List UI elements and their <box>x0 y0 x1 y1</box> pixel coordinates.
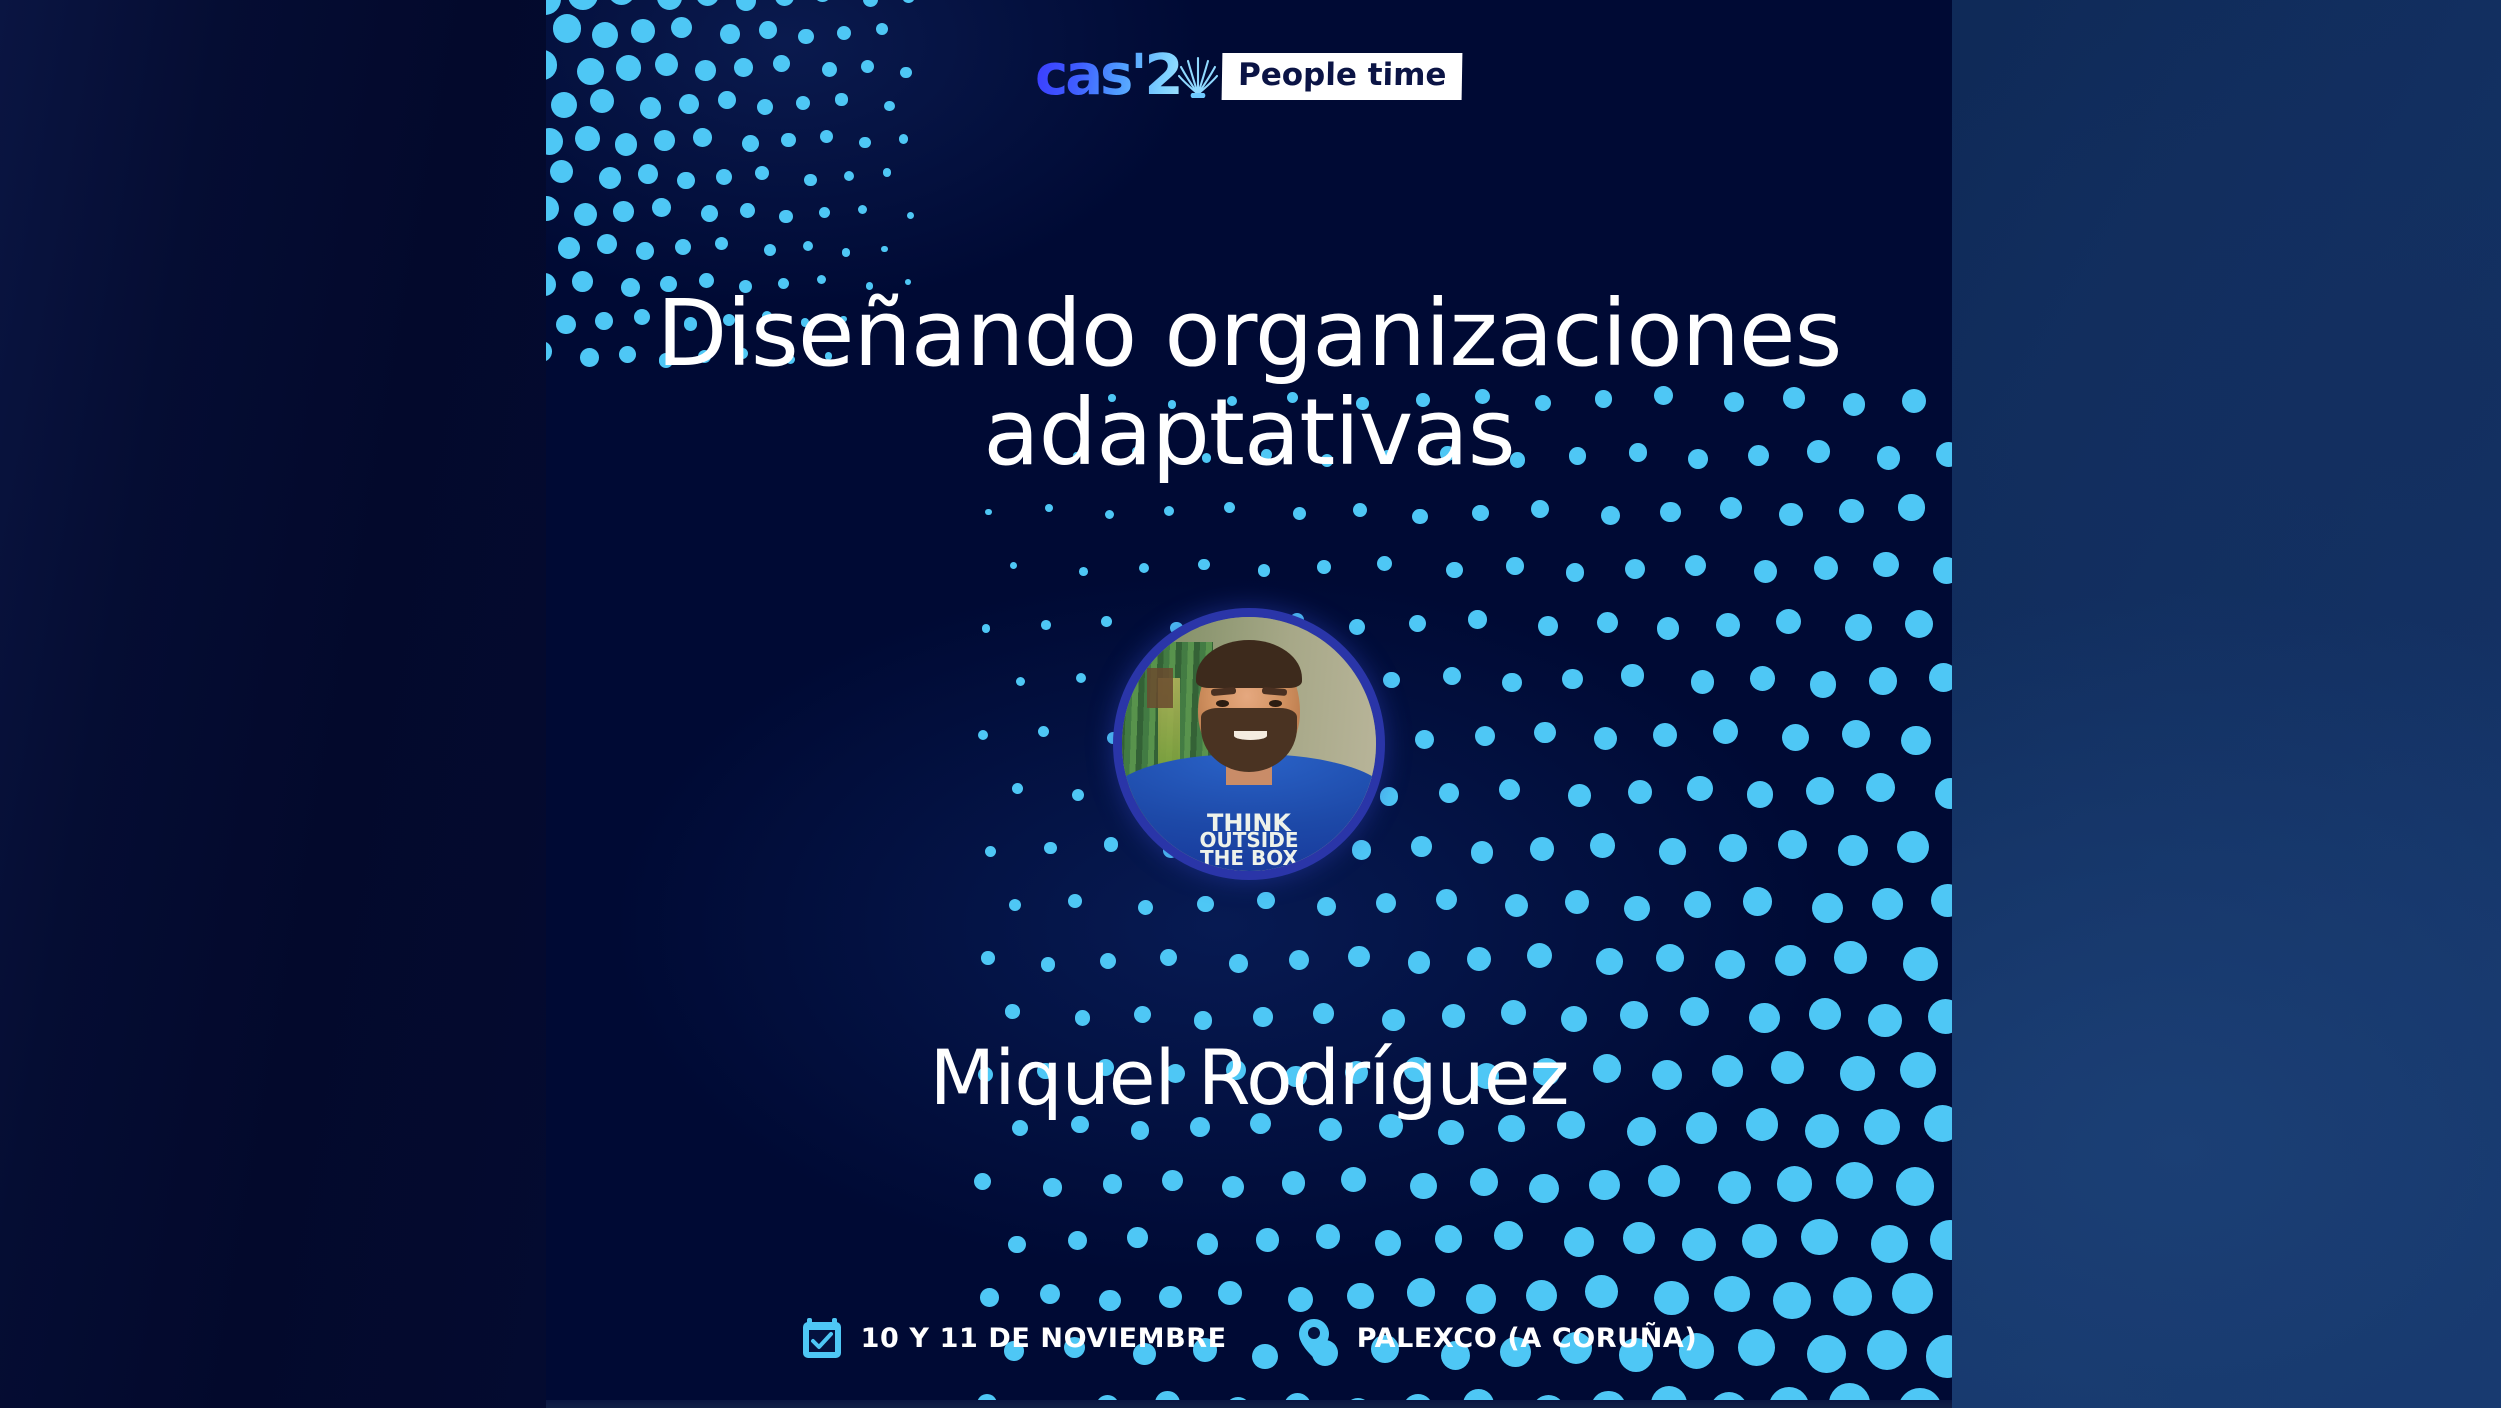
decorative-dot <box>1624 896 1650 922</box>
decorative-dot <box>1347 1283 1374 1310</box>
decorative-dot <box>1068 894 1082 908</box>
decorative-dot <box>876 23 888 35</box>
decorative-dot <box>1138 900 1153 915</box>
decorative-dot <box>1068 1231 1087 1250</box>
decorative-dot <box>1466 1284 1496 1314</box>
decorative-dot <box>1531 500 1549 518</box>
decorative-dot <box>1718 1171 1752 1205</box>
decorative-dot <box>1194 1011 1212 1029</box>
decorative-dot <box>1010 562 1018 570</box>
decorative-dot <box>1716 613 1740 637</box>
decorative-dot <box>1016 677 1025 686</box>
decorative-dot <box>1623 1222 1655 1254</box>
decorative-dot <box>1224 502 1236 514</box>
decorative-dot <box>781 133 796 148</box>
footer-date-label: 10 Y 11 DE NOVIEMBRE <box>861 1323 1227 1354</box>
decorative-dot <box>1691 670 1714 693</box>
decorative-dot <box>1928 999 1952 1034</box>
scallop-shell-icon <box>1178 54 1218 98</box>
decorative-dot <box>1656 944 1684 972</box>
decorative-dot <box>1407 1278 1435 1306</box>
decorative-dot <box>842 248 850 256</box>
decorative-dot <box>1778 830 1807 859</box>
decorative-dot <box>1538 616 1558 636</box>
decorative-dot <box>1282 1171 1306 1195</box>
decorative-dot <box>1288 1287 1313 1312</box>
decorative-dot <box>1902 389 1926 413</box>
decorative-dot <box>1467 947 1491 971</box>
decorative-dot <box>1526 1280 1557 1311</box>
decorative-dot <box>1383 672 1400 689</box>
decorative-dot <box>1660 502 1681 523</box>
decorative-dot <box>974 1173 991 1190</box>
decorative-dot <box>858 205 867 214</box>
speaker-eye-right <box>1269 700 1282 707</box>
decorative-dot <box>844 171 854 181</box>
decorative-dot <box>1076 673 1086 683</box>
decorative-dot <box>1072 789 1084 801</box>
decorative-dot <box>1256 1228 1279 1251</box>
decorative-dot <box>1590 833 1615 858</box>
decorative-dot <box>575 126 600 151</box>
decorative-dot <box>819 207 830 218</box>
decorative-dot <box>1715 950 1745 980</box>
decorative-dot <box>1589 1170 1620 1201</box>
decorative-dot <box>1568 784 1591 807</box>
decorative-dot <box>1898 494 1924 520</box>
decorative-dot <box>1776 609 1801 634</box>
decorative-dot <box>1435 1225 1462 1252</box>
decorative-dot <box>1100 953 1116 969</box>
decorative-dot <box>1197 1233 1219 1255</box>
decorative-dot <box>859 137 870 148</box>
decorative-dot <box>1075 1010 1091 1026</box>
decorative-dot <box>1839 499 1864 524</box>
decorative-dot <box>1380 787 1399 806</box>
decorative-dot <box>1836 1162 1873 1199</box>
decorative-dot <box>740 203 755 218</box>
decorative-dot <box>1929 663 1952 692</box>
decorative-dot <box>1529 1174 1558 1203</box>
decorative-dot <box>755 166 769 180</box>
decorative-dot <box>1833 1277 1872 1316</box>
decorative-dot <box>1654 1281 1688 1315</box>
decorative-dot <box>1005 1004 1019 1018</box>
decorative-dot <box>1625 559 1645 579</box>
decorative-dot <box>1530 837 1553 860</box>
decorative-dot <box>1682 1228 1715 1261</box>
decorative-dot <box>1038 726 1049 737</box>
decorative-dot <box>1043 1178 1061 1196</box>
decorative-dot <box>1376 893 1396 913</box>
decorative-dot <box>546 341 552 362</box>
decorative-dot <box>1012 783 1023 794</box>
decorative-dot <box>1564 1227 1594 1257</box>
decorative-dot <box>1562 669 1583 690</box>
decorative-dot <box>595 312 613 330</box>
decorative-dot <box>1775 945 1806 976</box>
decorative-dot <box>1446 562 1462 578</box>
decorative-dot <box>1442 1004 1466 1028</box>
talk-title: Diseñando organizaciones adaptativas <box>636 284 1862 483</box>
decorative-dot <box>1869 667 1897 695</box>
decorative-dot <box>1933 557 1952 584</box>
decorative-dot <box>1842 720 1871 749</box>
decorative-dot <box>1866 773 1896 803</box>
decorative-dot <box>1382 1009 1404 1031</box>
decorative-dot <box>1561 1006 1587 1032</box>
decorative-dot <box>1103 1174 1123 1194</box>
decorative-dot <box>1627 1117 1657 1147</box>
decorative-dot <box>1502 673 1521 692</box>
decorative-dot <box>736 0 757 11</box>
decorative-dot <box>1596 948 1623 975</box>
decorative-dot <box>1742 1224 1777 1259</box>
decorative-dot <box>1134 1006 1151 1023</box>
decorative-dot <box>1686 1112 1717 1143</box>
decorative-dot <box>1720 497 1742 519</box>
people-time-badge: People time <box>1222 53 1463 100</box>
left-backdrop-pillar <box>0 0 546 1408</box>
decorative-dot <box>1936 442 1952 467</box>
decorative-dot <box>742 135 759 152</box>
decorative-dot <box>597 234 617 254</box>
decorative-dot <box>1317 897 1336 916</box>
decorative-dot <box>1903 947 1937 981</box>
decorative-dot <box>1293 507 1306 520</box>
decorative-dot <box>580 348 599 367</box>
decorative-dot <box>1628 780 1652 804</box>
decorative-dot <box>1506 557 1524 575</box>
decorative-dot <box>1041 620 1051 630</box>
decorative-dot <box>1313 1003 1334 1024</box>
decorative-dot <box>982 624 990 632</box>
decorative-dot <box>883 168 891 176</box>
decorative-dot <box>779 210 792 223</box>
decorative-dot <box>1104 837 1118 851</box>
decorative-dot <box>1713 719 1739 745</box>
decorative-dot <box>803 241 813 251</box>
decorative-dot <box>574 203 597 226</box>
decorative-dot <box>1534 722 1556 744</box>
speaker-avatar-ring: THINK OUTSIDE THE BOX <box>1113 608 1385 880</box>
decorative-dot <box>1901 726 1931 756</box>
decorative-dot <box>1222 1176 1244 1198</box>
decorative-dot <box>1872 888 1904 920</box>
decorative-dot <box>1565 890 1589 914</box>
decorative-dot <box>1754 560 1777 583</box>
halftone-dots-bottom-right <box>946 380 1952 1402</box>
decorative-dot <box>1657 617 1679 639</box>
decorative-dot <box>1197 896 1213 912</box>
decorative-dot <box>1873 552 1899 578</box>
decorative-dot <box>675 239 691 255</box>
decorative-dot <box>1773 1282 1810 1319</box>
decorative-dot <box>1868 1004 1902 1038</box>
decorative-dot <box>1687 776 1712 801</box>
decorative-dot <box>1412 509 1427 524</box>
decorative-dot <box>631 19 655 43</box>
decorative-dot <box>1892 1273 1933 1314</box>
decorative-dot <box>1475 726 1495 746</box>
decorative-dot <box>1160 949 1177 966</box>
slide-footer: 10 Y 11 DE NOVIEMBRE PALEXCO (A CORUÑA) <box>546 1316 1952 1360</box>
decorative-dot <box>1410 1173 1436 1199</box>
decorative-dot <box>1838 835 1869 866</box>
decorative-dot <box>1935 778 1952 809</box>
decorative-dot <box>1348 946 1369 967</box>
decorative-dot <box>592 22 618 48</box>
location-pin-icon <box>1297 1316 1339 1360</box>
decorative-dot <box>1012 1120 1028 1136</box>
decorative-dot <box>1834 941 1867 974</box>
decorative-dot <box>1159 1286 1182 1309</box>
decorative-dot <box>1229 954 1248 973</box>
decorative-dot <box>1801 1219 1837 1255</box>
decorative-dot <box>615 133 638 156</box>
decorative-dot <box>546 0 561 15</box>
decorative-dot <box>1812 893 1842 923</box>
decorative-dot <box>619 346 636 363</box>
decorative-dot <box>716 169 732 185</box>
decorative-dot <box>1653 723 1677 747</box>
decorative-dot <box>677 172 695 190</box>
decorative-dot <box>558 237 580 259</box>
decorative-dot <box>693 128 712 147</box>
decorative-dot <box>814 0 831 2</box>
presentation-slide: cas'2 People time Diseñ <box>546 0 1952 1402</box>
decorative-dot <box>1877 446 1901 470</box>
logo-wordmark: cas'2 <box>1035 48 1182 104</box>
decorative-dot <box>820 130 833 143</box>
decorative-dot <box>978 730 988 740</box>
decorative-dot <box>553 14 581 42</box>
tshirt-text-line-3: THE BOX <box>1122 846 1376 870</box>
decorative-dot <box>985 509 992 516</box>
decorative-dot <box>907 212 915 220</box>
decorative-dot <box>696 0 719 6</box>
decorative-dot <box>1289 950 1309 970</box>
decorative-dot <box>1806 777 1834 805</box>
decorative-dot <box>775 0 794 6</box>
decorative-dot <box>1468 610 1486 628</box>
event-logo: cas'2 People time <box>546 48 1952 104</box>
decorative-dot <box>720 24 740 44</box>
decorative-dot <box>546 128 563 155</box>
decorative-dot <box>1779 503 1802 526</box>
decorative-dot <box>613 201 634 222</box>
decorative-dot <box>1505 894 1528 917</box>
screen: cas'2 People time Diseñ <box>0 0 2501 1408</box>
decorative-dot <box>1253 1007 1273 1027</box>
decorative-dot <box>1198 559 1209 570</box>
decorative-dot <box>1499 779 1520 800</box>
decorative-dot <box>1377 556 1392 571</box>
footer-venue: PALEXCO (A CORUÑA) <box>1297 1316 1698 1360</box>
decorative-dot <box>1743 887 1772 916</box>
decorative-dot <box>1139 563 1149 573</box>
decorative-dot <box>1436 889 1458 911</box>
footer-venue-label: PALEXCO (A CORUÑA) <box>1357 1323 1698 1354</box>
decorative-dot <box>546 196 559 221</box>
decorative-dot <box>1871 1225 1909 1263</box>
decorative-dot <box>568 0 598 10</box>
decorative-dot <box>804 174 816 186</box>
decorative-dot <box>1472 505 1489 522</box>
decorative-dot <box>759 21 777 39</box>
decorative-dot <box>1375 1230 1401 1256</box>
decorative-dot <box>902 0 915 3</box>
decorative-dot <box>1896 1167 1934 1205</box>
calendar-check-icon <box>801 1316 843 1360</box>
decorative-dot <box>1443 667 1461 685</box>
decorative-dot <box>1597 612 1618 633</box>
decorative-dot <box>1131 1121 1150 1140</box>
decorative-dot <box>1810 671 1836 697</box>
decorative-dot <box>881 246 888 253</box>
decorative-dot <box>1527 943 1552 968</box>
decorative-dot <box>1105 510 1114 519</box>
decorative-dot <box>550 160 574 184</box>
footer-date: 10 Y 11 DE NOVIEMBRE <box>801 1316 1227 1360</box>
decorative-dot <box>1079 567 1088 576</box>
decorative-dot <box>1566 563 1585 582</box>
decorative-dot <box>1601 506 1620 525</box>
decorative-dot <box>657 0 682 10</box>
decorative-dot <box>671 17 693 39</box>
decorative-dot <box>798 29 814 45</box>
decorative-dot <box>1931 884 1952 917</box>
decorative-dot <box>863 0 878 7</box>
decorative-dot <box>701 205 718 222</box>
decorative-dot <box>608 0 635 5</box>
decorative-dot <box>546 273 556 296</box>
decorative-dot <box>715 237 729 251</box>
decorative-dot <box>1620 1001 1648 1029</box>
decorative-dot <box>572 271 593 292</box>
decorative-dot <box>1316 1224 1341 1249</box>
decorative-dot <box>1471 841 1493 863</box>
speaker-name: Miquel Rodríguez <box>546 1040 1952 1116</box>
decorative-dot <box>1415 730 1434 749</box>
decorative-dot <box>1341 1167 1366 1192</box>
decorative-dot <box>1127 1227 1147 1247</box>
decorative-dot <box>1930 1220 1952 1260</box>
decorative-dot <box>1805 1114 1839 1148</box>
speaker-photo: THINK OUTSIDE THE BOX <box>1122 617 1376 871</box>
decorative-dot <box>1101 616 1112 627</box>
decorative-dot <box>1164 506 1174 516</box>
decorative-dot <box>1719 834 1747 862</box>
speaker-eye-left <box>1216 700 1229 707</box>
decorative-dot <box>556 315 576 335</box>
decorative-dot <box>837 26 851 40</box>
decorative-dot <box>636 242 654 260</box>
speaker-mouth <box>1234 731 1267 740</box>
decorative-dot <box>1353 503 1367 517</box>
decorative-dot <box>1905 610 1933 638</box>
decorative-dot <box>1659 838 1685 864</box>
decorative-dot <box>1648 1165 1680 1197</box>
decorative-dot <box>638 164 658 184</box>
decorative-dot <box>1809 998 1841 1030</box>
decorative-dot <box>1411 836 1432 857</box>
decorative-dot <box>1684 891 1711 918</box>
decorative-dot <box>1409 615 1426 632</box>
decorative-dot <box>899 134 908 143</box>
decorative-dot <box>1408 951 1431 974</box>
decorative-dot <box>652 198 671 217</box>
decorative-dot <box>1494 1221 1523 1250</box>
decorative-dot <box>1438 1120 1463 1145</box>
decorative-dot <box>1099 1290 1120 1311</box>
decorative-dot <box>1162 1170 1183 1191</box>
decorative-dot <box>1501 1000 1526 1025</box>
decorative-dot <box>1040 1284 1060 1304</box>
decorative-dot <box>1317 560 1331 574</box>
decorative-dot <box>1585 1275 1618 1308</box>
decorative-dot <box>1041 957 1056 972</box>
decorative-dot <box>1714 1276 1750 1312</box>
decorative-dot <box>980 1288 999 1307</box>
decorative-dot <box>654 130 675 151</box>
decorative-dot <box>1749 1003 1780 1034</box>
decorative-dot <box>1008 1236 1026 1254</box>
decorative-dot <box>764 244 776 256</box>
decorative-dot <box>1621 664 1643 686</box>
decorative-dot <box>1814 556 1838 580</box>
decorative-dot <box>1257 892 1275 910</box>
decorative-dot <box>1897 831 1929 863</box>
decorative-dot <box>985 846 997 858</box>
decorative-dot <box>981 951 994 964</box>
decorative-dot <box>1045 504 1053 512</box>
decorative-dot <box>599 167 621 189</box>
decorative-dot <box>1750 666 1775 691</box>
decorative-dot <box>1747 781 1774 808</box>
decorative-dot <box>1845 614 1872 641</box>
decorative-dot <box>1439 783 1459 803</box>
decorative-dot <box>1782 724 1809 751</box>
decorative-dot <box>1680 997 1709 1026</box>
decorative-dot <box>1594 727 1617 750</box>
decorative-dot <box>1009 899 1022 912</box>
decorative-dot <box>1470 1168 1498 1196</box>
slide-bottom-edge <box>546 1400 1952 1408</box>
decorative-dot <box>1777 1166 1812 1201</box>
decorative-dot <box>1218 1281 1242 1305</box>
decorative-dot <box>1258 564 1270 576</box>
decorative-dot <box>1685 555 1707 577</box>
decorative-dot <box>1044 842 1057 855</box>
photo-background-door <box>1147 668 1172 709</box>
